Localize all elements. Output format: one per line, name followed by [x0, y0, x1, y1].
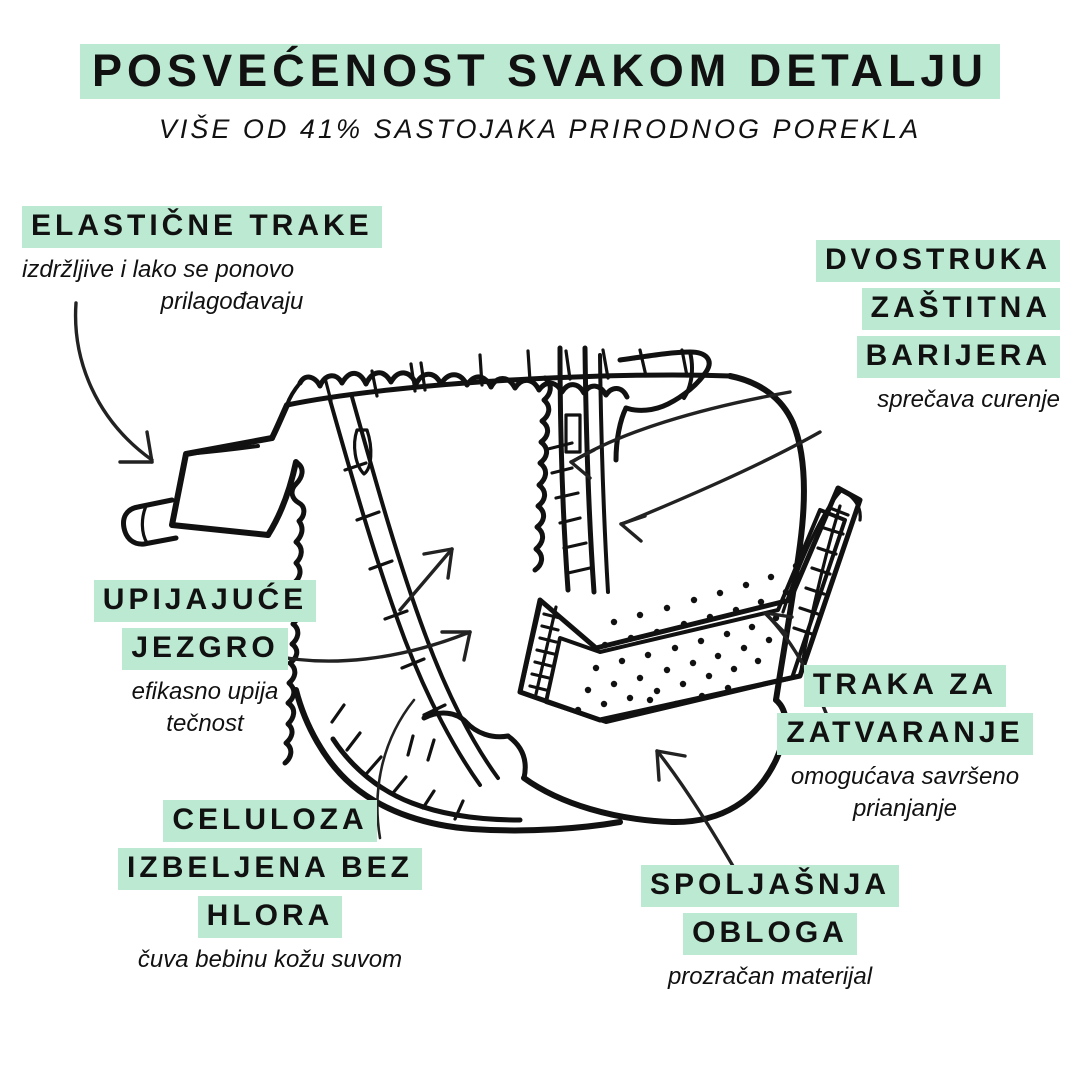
- callout-barrier-desc-0: sprečava curenje: [600, 384, 1060, 416]
- callout-barrier-line-0: DVOSTRUKA: [816, 240, 1060, 282]
- callout-barrier: DVOSTRUKA ZAŠTITNA BARIJERA sprečava cur…: [600, 240, 1060, 416]
- callout-tape-line-1: ZATVARANJE: [777, 713, 1032, 755]
- callout-tape-title: TRAKA ZA ZATVARANJE: [740, 665, 1070, 755]
- callout-core-line-0: UPIJAJUĆE: [94, 580, 316, 622]
- page-title: POSVEĆENOST SVAKOM DETALJU: [50, 44, 1030, 99]
- callout-core-title: UPIJAJUĆE JEZGRO: [40, 580, 370, 670]
- callout-outer: SPOLJAŠNJA OBLOGA prozračan materijal: [600, 865, 940, 993]
- callout-cellulose-desc: čuva bebinu kožu suvom: [70, 944, 470, 976]
- callout-cellulose-line-2: HLORA: [198, 896, 343, 938]
- callout-tape-line-0: TRAKA ZA: [804, 665, 1006, 707]
- arrow-outer: [657, 751, 740, 878]
- callout-outer-desc-0: prozračan materijal: [600, 961, 940, 993]
- callout-elastic-desc: izdržljive i lako se ponovo prilagođavaj…: [22, 254, 442, 319]
- callout-elastic: ELASTIČNE TRAKE izdržljive i lako se pon…: [22, 206, 442, 319]
- callout-barrier-title: DVOSTRUKA ZAŠTITNA BARIJERA: [600, 240, 1060, 378]
- callout-cellulose-desc-0: čuva bebinu kožu suvom: [70, 944, 470, 976]
- callout-cellulose: CELULOZA IZBELJENA BEZ HLORA čuva bebinu…: [70, 800, 470, 976]
- callout-elastic-title: ELASTIČNE TRAKE: [22, 206, 442, 248]
- title-text: POSVEĆENOST SVAKOM DETALJU: [92, 45, 988, 96]
- arrow-elastic: [76, 303, 152, 462]
- callout-tape-desc-1: prianjanje: [740, 793, 1070, 825]
- title-highlight: POSVEĆENOST SVAKOM DETALJU: [80, 44, 1000, 99]
- callout-tape-desc: omogućava savršeno prianjanje: [740, 761, 1070, 826]
- callout-core-desc: efikasno upija tečnost: [40, 676, 370, 741]
- callout-cellulose-line-0: CELULOZA: [163, 800, 376, 842]
- infographic-canvas: POSVEĆENOST SVAKOM DETALJU VIŠE OD 41% S…: [0, 0, 1080, 1080]
- page-subtitle: VIŠE OD 41% SASTOJAKA PRIRODNOG POREKLA: [0, 114, 1080, 145]
- callout-cellulose-title: CELULOZA IZBELJENA BEZ HLORA: [70, 800, 470, 938]
- callout-outer-title: SPOLJAŠNJA OBLOGA: [600, 865, 940, 955]
- callout-tape-desc-0: omogućava savršeno: [740, 761, 1070, 793]
- arrow-core-upper: [400, 549, 452, 610]
- callout-elastic-desc-0: izdržljive i lako se ponovo: [22, 254, 442, 286]
- arrow-barrier-lower: [621, 432, 820, 541]
- callout-barrier-desc: sprečava curenje: [600, 384, 1060, 416]
- callout-cellulose-line-1: IZBELJENA BEZ: [118, 848, 422, 890]
- callout-core-desc-0: efikasno upija: [40, 676, 370, 708]
- callout-outer-line-0: SPOLJAŠNJA: [641, 865, 899, 907]
- callout-barrier-line-2: BARIJERA: [857, 336, 1060, 378]
- callout-core-desc-1: tečnost: [40, 708, 370, 740]
- callout-barrier-line-1: ZAŠTITNA: [862, 288, 1060, 330]
- callout-tape: TRAKA ZA ZATVARANJE omogućava savršeno p…: [740, 665, 1070, 826]
- callout-elastic-desc-1: prilagođavaju: [22, 286, 442, 318]
- callout-elastic-line-0: ELASTIČNE TRAKE: [22, 206, 382, 248]
- callout-core: UPIJAJUĆE JEZGRO efikasno upija tečnost: [40, 580, 370, 741]
- callout-outer-desc: prozračan materijal: [600, 961, 940, 993]
- callout-core-line-1: JEZGRO: [122, 628, 287, 670]
- callout-outer-line-1: OBLOGA: [683, 913, 857, 955]
